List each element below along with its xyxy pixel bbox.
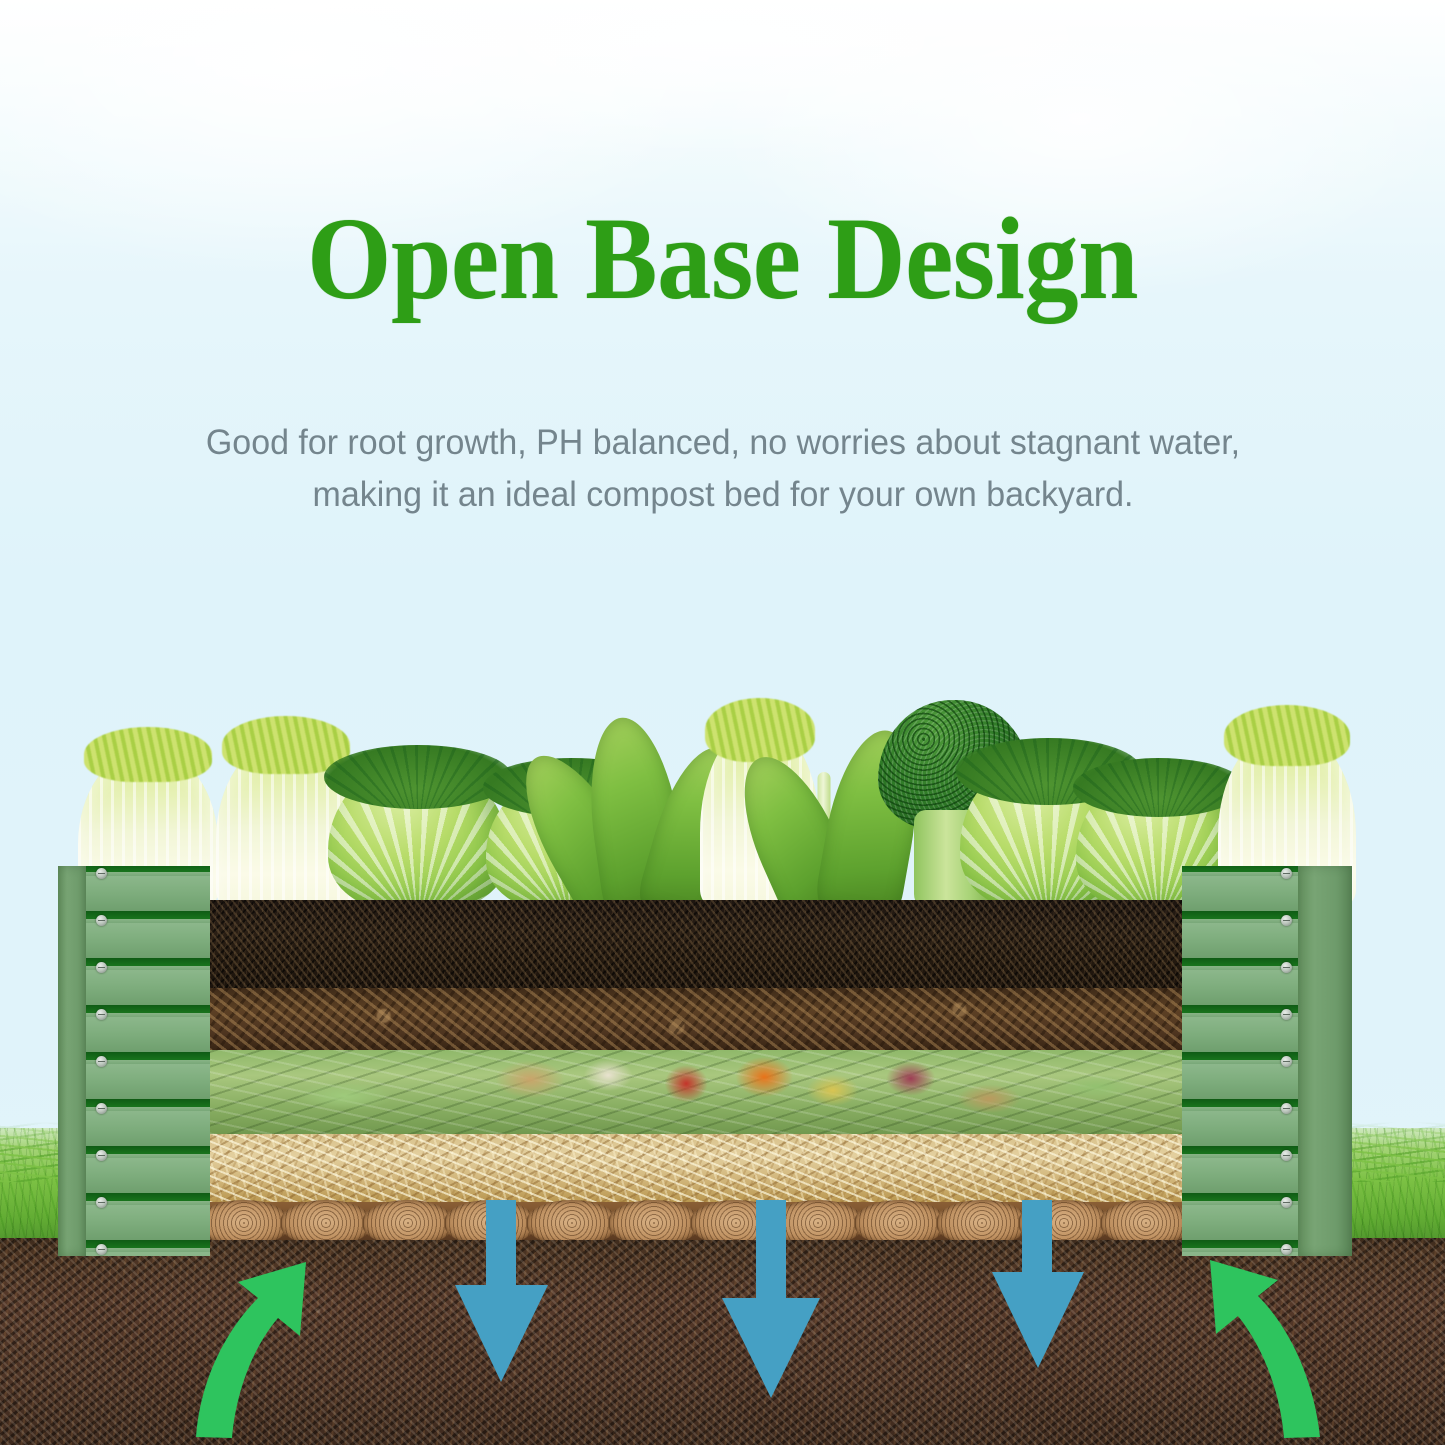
screw-icon bbox=[96, 962, 107, 973]
layer-bark-compost bbox=[208, 988, 1184, 1050]
panel-face-right bbox=[1182, 866, 1300, 1256]
subtitle-line-1: Good for root growth, PH balanced, no wo… bbox=[205, 423, 1239, 462]
bed-panel-left[interactable] bbox=[58, 866, 210, 1256]
screw-icon bbox=[96, 915, 107, 926]
layer-straw bbox=[208, 1134, 1184, 1202]
screw-icon bbox=[96, 1103, 107, 1114]
plant-cabbage-1 bbox=[328, 760, 508, 912]
arrow-drainage-1 bbox=[455, 1200, 548, 1382]
panel-face-left bbox=[86, 866, 210, 1256]
airflow-drainage-arrows bbox=[0, 1200, 1445, 1445]
screw-icon bbox=[1281, 962, 1292, 973]
screw-icon bbox=[96, 1009, 107, 1020]
layer-topsoil bbox=[208, 900, 1184, 988]
screw-icon bbox=[96, 868, 107, 879]
arrow-drainage-2 bbox=[722, 1200, 820, 1398]
screw-icon bbox=[96, 1150, 107, 1161]
bed-panel-right[interactable] bbox=[1182, 866, 1352, 1256]
screw-icon bbox=[1281, 915, 1292, 926]
page-subtitle: Good for root growth, PH balanced, no wo… bbox=[77, 417, 1367, 521]
subtitle-line-2: making it an ideal compost bed for your … bbox=[312, 475, 1133, 514]
screw-icon bbox=[1281, 1056, 1292, 1067]
screw-icon bbox=[1281, 1103, 1292, 1114]
screw-icon bbox=[1281, 1009, 1292, 1020]
arrow-airflow-in-right bbox=[1210, 1260, 1320, 1438]
page-title: Open Base Design bbox=[58, 197, 1387, 321]
arrow-drainage-3 bbox=[992, 1200, 1084, 1368]
layer-kitchen-scraps bbox=[208, 1050, 1184, 1134]
marketing-graphic: Open Base Design Good for root growth, P… bbox=[0, 0, 1445, 1445]
bed-cross-section bbox=[208, 900, 1184, 1240]
screw-icon bbox=[1281, 868, 1292, 879]
corner-post-left bbox=[58, 866, 88, 1256]
arrow-airflow-in-left bbox=[196, 1262, 306, 1438]
corner-post-right bbox=[1298, 866, 1352, 1256]
screw-icon bbox=[1281, 1150, 1292, 1161]
screw-icon bbox=[96, 1056, 107, 1067]
